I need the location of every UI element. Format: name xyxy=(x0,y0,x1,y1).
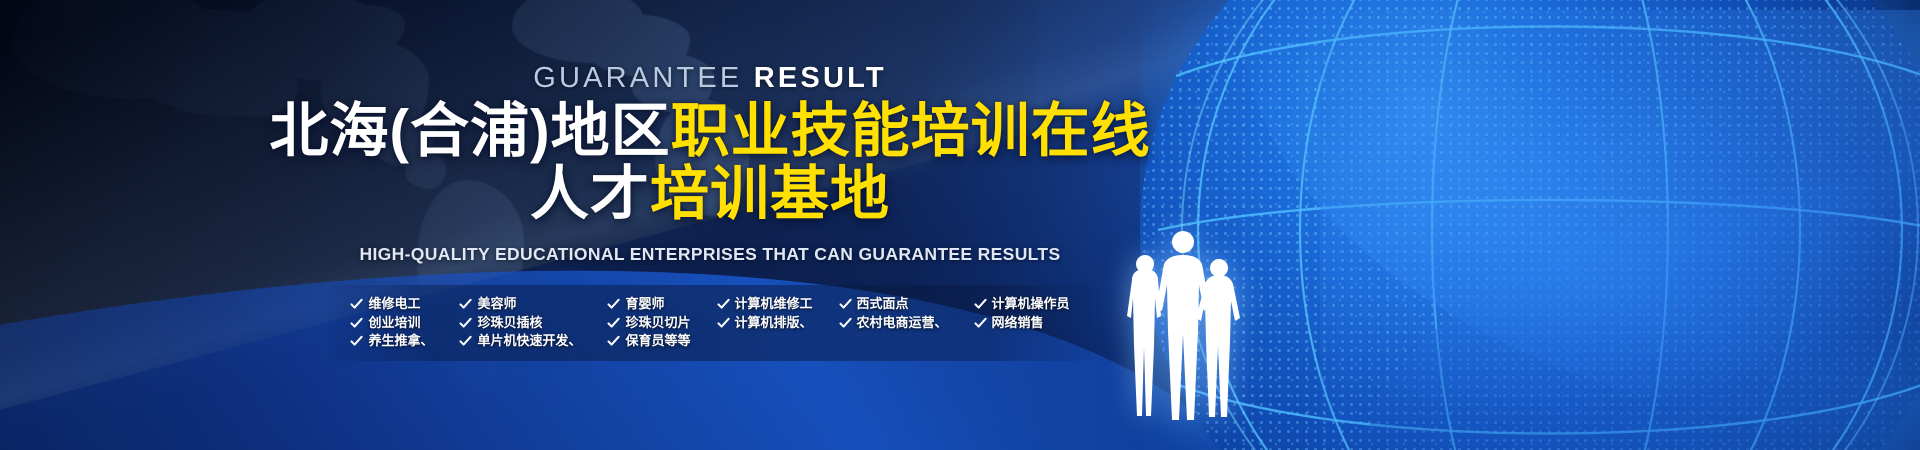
checklist-item-label: 计算机排版、 xyxy=(735,314,813,331)
checklist-item-label: 计算机维修工 xyxy=(735,295,813,312)
checklist-item-label: 美容师 xyxy=(477,295,516,312)
check-icon xyxy=(839,297,852,310)
checklist-item: 农村电商运营、 xyxy=(839,314,948,331)
checklist-item-label: 单片机快速开发、 xyxy=(477,332,581,349)
checklist-columns: 维修电工创业培训养生推拿、美容师珍珠贝插核单片机快速开发、育婴师珍珠贝切片保育员… xyxy=(350,294,1069,351)
checklist-item-label: 计算机操作员 xyxy=(992,295,1070,312)
checklist-item: 单片机快速开发、 xyxy=(459,332,581,349)
title-line1-white: 北海(合浦)地区 xyxy=(269,98,670,164)
title-line2-yellow: 培训基地 xyxy=(650,161,890,227)
page-title-line-2: 人才培训基地 xyxy=(0,164,1420,225)
check-icon xyxy=(459,316,472,329)
eyebrow-text: GUARANTEE RESULT xyxy=(0,62,1420,95)
check-icon xyxy=(350,297,363,310)
checklist-item: 维修电工 xyxy=(350,295,433,312)
checklist-item: 养生推拿、 xyxy=(350,332,433,349)
promo-banner: GUARANTEE RESULT 北海(合浦)地区职业技能培训在线 人才培训基地… xyxy=(0,0,1920,450)
checklist-item: 网络销售 xyxy=(974,314,1070,331)
page-title-line-1: 北海(合浦)地区职业技能培训在线 xyxy=(0,101,1420,162)
check-icon xyxy=(607,316,620,329)
checklist-item: 珍珠贝切片 xyxy=(607,314,690,331)
eyebrow-guarantee: GUARANTEE xyxy=(533,62,742,94)
checklist-column: 计算机操作员网络销售 xyxy=(974,294,1070,333)
check-icon xyxy=(607,297,620,310)
checklist-item: 美容师 xyxy=(459,295,581,312)
eyebrow-result: RESULT xyxy=(754,62,887,94)
checklist-item: 西式面点 xyxy=(839,295,948,312)
checklist-item-label: 保育员等等 xyxy=(625,332,690,349)
subtitle-text: HIGH-QUALITY EDUCATIONAL ENTERPRISES THA… xyxy=(0,244,1420,265)
check-icon xyxy=(459,334,472,347)
check-icon xyxy=(839,316,852,329)
checklist-item-label: 西式面点 xyxy=(857,295,909,312)
checklist-item: 计算机维修工 xyxy=(717,295,813,312)
checklist-item: 计算机操作员 xyxy=(974,295,1070,312)
checklist-item-label: 农村电商运营、 xyxy=(857,314,948,331)
checklist-column: 计算机维修工计算机排版、 xyxy=(717,294,813,333)
checklist-panel: 维修电工创业培训养生推拿、美容师珍珠贝插核单片机快速开发、育婴师珍珠贝切片保育员… xyxy=(328,285,1091,361)
checklist-item: 创业培训 xyxy=(350,314,433,331)
checklist-column: 西式面点农村电商运营、 xyxy=(839,294,948,333)
checklist-column: 维修电工创业培训养生推拿、 xyxy=(350,294,433,351)
checklist-item-label: 创业培训 xyxy=(368,314,420,331)
check-icon xyxy=(974,316,987,329)
checklist-item: 珍珠贝插核 xyxy=(459,314,581,331)
check-icon xyxy=(717,316,730,329)
check-icon xyxy=(459,297,472,310)
title-line2-white: 人才 xyxy=(530,161,650,227)
checklist-item-label: 维修电工 xyxy=(368,295,420,312)
checklist-item: 计算机排版、 xyxy=(717,314,813,331)
banner-content: GUARANTEE RESULT 北海(合浦)地区职业技能培训在线 人才培训基地… xyxy=(0,0,1420,450)
checklist-item-label: 珍珠贝切片 xyxy=(625,314,690,331)
check-icon xyxy=(974,297,987,310)
check-icon xyxy=(350,316,363,329)
checklist-column: 育婴师珍珠贝切片保育员等等 xyxy=(607,294,690,351)
checklist-item-label: 育婴师 xyxy=(625,295,664,312)
check-icon xyxy=(350,334,363,347)
check-icon xyxy=(607,334,620,347)
check-icon xyxy=(717,297,730,310)
checklist-item-label: 珍珠贝插核 xyxy=(477,314,542,331)
checklist-column: 美容师珍珠贝插核单片机快速开发、 xyxy=(459,294,581,351)
checklist-item: 保育员等等 xyxy=(607,332,690,349)
checklist-item: 育婴师 xyxy=(607,295,690,312)
title-line1-yellow: 职业技能培训在线 xyxy=(671,98,1151,164)
checklist-item-label: 网络销售 xyxy=(992,314,1044,331)
checklist-item-label: 养生推拿、 xyxy=(368,332,433,349)
